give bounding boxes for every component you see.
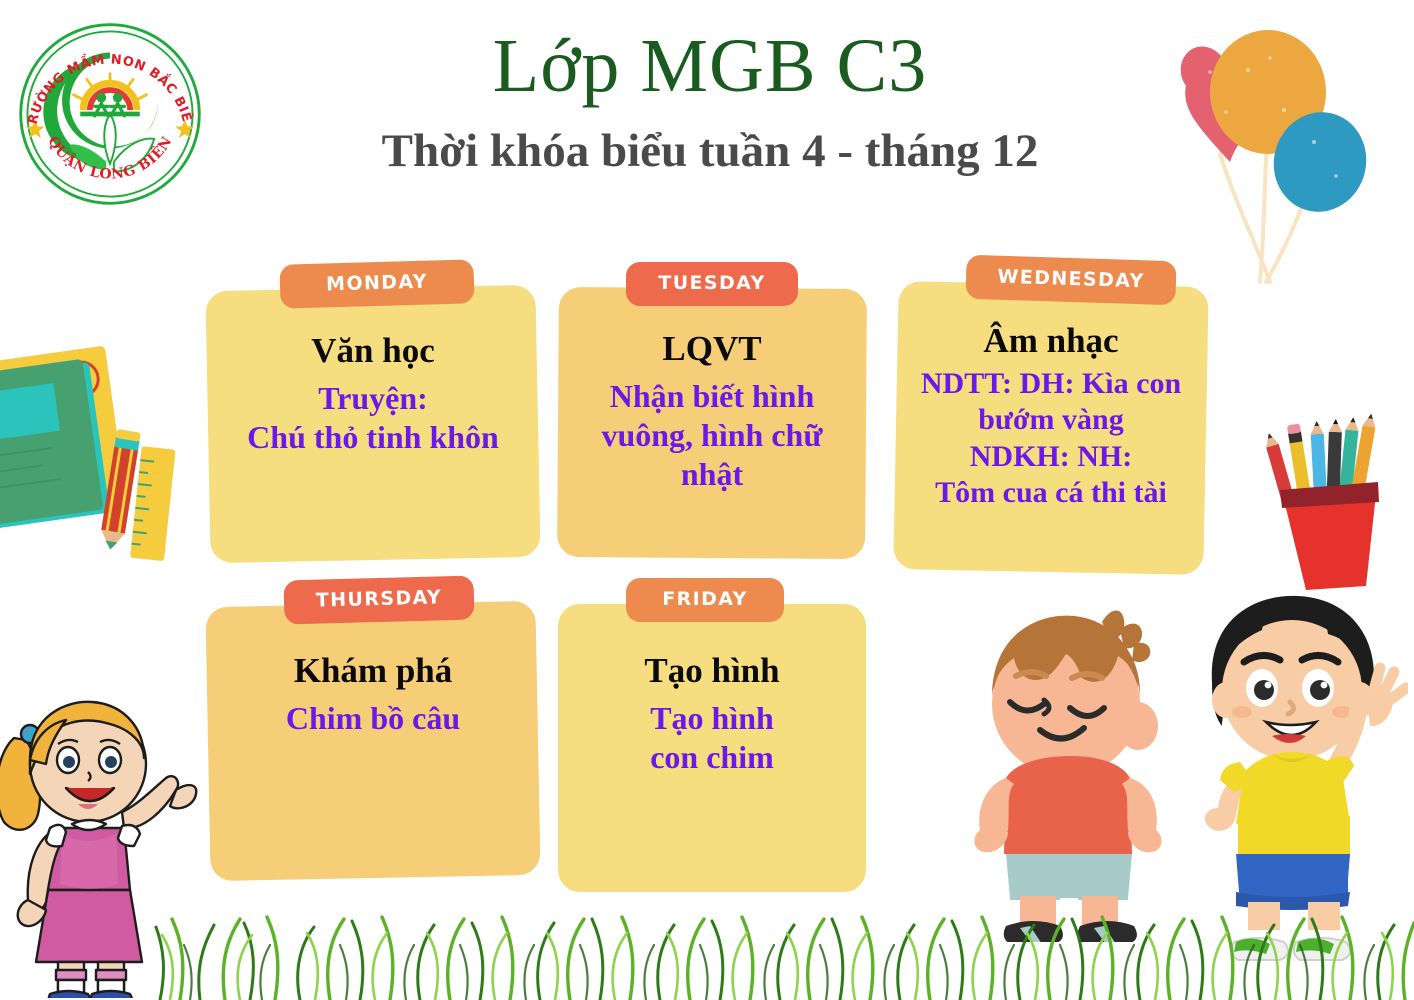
detail-line: Nhận biết hình (558, 377, 866, 416)
card-content-friday: Tạo hình Tạo hình con chim (558, 650, 866, 777)
schedule-card-thursday[interactable]: THURSDAY Khám phá Chim bồ câu (208, 578, 538, 878)
detail-wednesday: NDTT: DH: Kìa con bướm vàng NDKH: NH: Tô… (888, 366, 1214, 512)
card-content-monday: Văn học Truyện: Chú thỏ tinh khôn (208, 330, 538, 457)
detail-line: Chú thỏ tinh khôn (208, 418, 538, 457)
detail-line: Truyện: (208, 379, 538, 418)
detail-line: NDTT: DH: Kìa con (888, 366, 1214, 403)
card-background-thursday (205, 601, 540, 881)
card-content-wednesday: Âm nhạc NDTT: DH: Kìa con bướm vàng NDKH… (888, 320, 1214, 512)
detail-line: Tôm cua cá thi tài (888, 475, 1214, 512)
subject-wednesday: Âm nhạc (888, 320, 1214, 363)
detail-monday: Truyện: Chú thỏ tinh khôn (208, 379, 538, 457)
detail-line: con chim (558, 738, 866, 777)
day-tab-tuesday[interactable]: TUESDAY (626, 262, 798, 306)
detail-line: vuông, hình chữ (558, 416, 866, 455)
day-tab-thursday[interactable]: THURSDAY (283, 576, 474, 625)
day-tab-monday[interactable]: MONDAY (279, 259, 474, 308)
detail-tuesday: Nhận biết hình vuông, hình chữ nhật (558, 377, 866, 494)
card-content-tuesday: LQVT Nhận biết hình vuông, hình chữ nhật (558, 328, 866, 494)
subject-thursday: Khám phá (208, 650, 538, 693)
detail-line: Chim bồ câu (208, 699, 538, 738)
schedule-card-friday[interactable]: FRIDAY Tạo hình Tạo hình con chim (558, 578, 866, 878)
schedule-card-wednesday[interactable]: WEDNESDAY Âm nhạc NDTT: DH: Kìa con bướm… (896, 258, 1206, 558)
detail-friday: Tạo hình con chim (558, 699, 866, 777)
detail-line: Tạo hình (558, 699, 866, 738)
subject-tuesday: LQVT (558, 328, 866, 371)
detail-line: nhật (558, 455, 866, 494)
subject-friday: Tạo hình (558, 650, 866, 693)
detail-line: bướm vàng (888, 402, 1214, 439)
schedule-card-monday[interactable]: MONDAY Văn học Truyện: Chú thỏ tinh khôn (208, 262, 538, 562)
card-content-thursday: Khám phá Chim bồ câu (208, 650, 538, 738)
schedule-card-tuesday[interactable]: TUESDAY LQVT Nhận biết hình vuông, hình … (558, 262, 866, 562)
day-tab-wednesday[interactable]: WEDNESDAY (965, 255, 1176, 306)
detail-line: NDKH: NH: (888, 439, 1214, 476)
day-tab-friday[interactable]: FRIDAY (626, 578, 784, 622)
detail-thursday: Chim bồ câu (208, 699, 538, 738)
schedule-grid: MONDAY Văn học Truyện: Chú thỏ tinh khôn… (0, 0, 1414, 1000)
subject-monday: Văn học (208, 330, 538, 373)
